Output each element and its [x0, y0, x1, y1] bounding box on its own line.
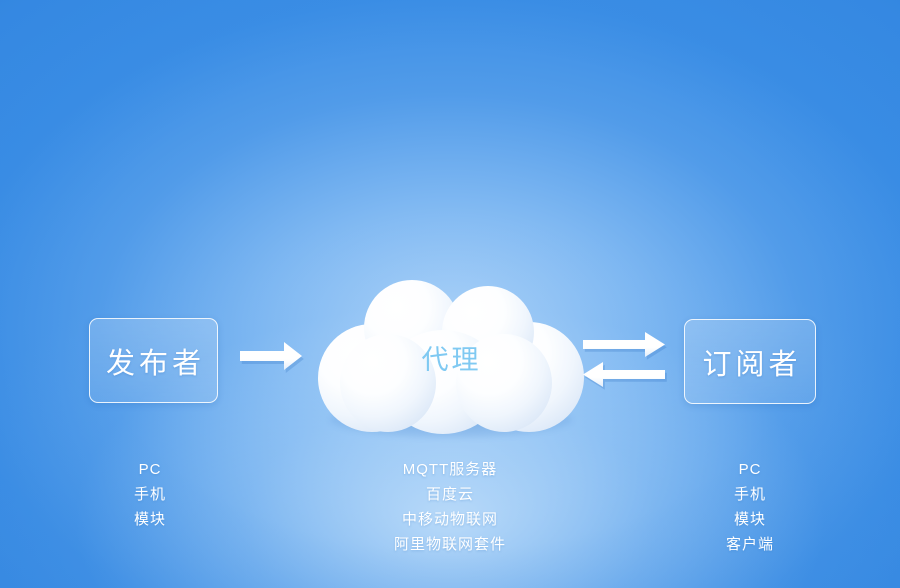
caption-item: 模块 — [690, 507, 810, 532]
caption-item: MQTT服务器 — [355, 457, 545, 482]
caption-item: PC — [90, 457, 210, 482]
broker-caption-list: MQTT服务器 百度云 中移动物联网 阿里物联网套件 — [355, 457, 545, 557]
arrow-publisher-to-broker-icon — [240, 340, 320, 376]
diagram-canvas: 发布者 代理 — [0, 0, 900, 588]
caption-item: 中移动物联网 — [355, 507, 545, 532]
caption-item: 百度云 — [355, 482, 545, 507]
subscriber-caption-list: PC 手机 模块 客户端 — [690, 457, 810, 557]
caption-item: 模块 — [90, 507, 210, 532]
subscriber-node-label: 订阅者 — [698, 341, 801, 383]
arrow-subscriber-to-broker-icon — [583, 361, 669, 389]
caption-item: 手机 — [690, 482, 810, 507]
broker-node-label: 代理 — [318, 338, 582, 377]
publisher-node[interactable]: 发布者 — [89, 318, 218, 403]
publisher-node-label: 发布者 — [102, 340, 205, 382]
caption-item: 手机 — [90, 482, 210, 507]
subscriber-node[interactable]: 订阅者 — [684, 319, 816, 404]
caption-item: 客户端 — [690, 532, 810, 557]
arrow-broker-to-subscriber-icon — [583, 331, 669, 359]
caption-item: 阿里物联网套件 — [355, 532, 545, 557]
publisher-caption-list: PC 手机 模块 — [90, 457, 210, 532]
caption-item: PC — [690, 457, 810, 482]
